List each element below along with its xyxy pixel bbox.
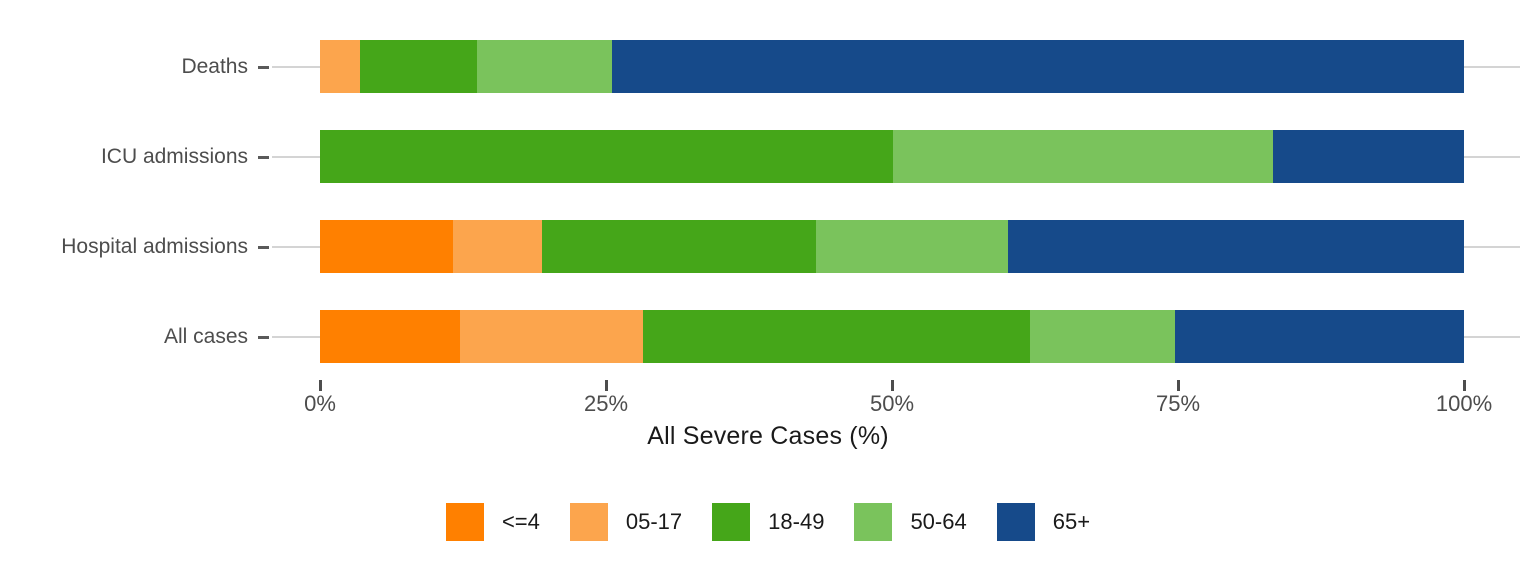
y-axis-label-hospital-admissions: Hospital admissions	[0, 236, 248, 257]
x-axis-tick-label: 50%	[832, 393, 952, 415]
bar-segment-65[interactable]	[1273, 130, 1464, 183]
y-axis-tick	[258, 156, 269, 159]
bar-segment-65[interactable]	[1008, 220, 1464, 273]
x-axis-tick	[605, 380, 608, 391]
bar-segment-5064[interactable]	[477, 40, 612, 93]
legend-label: 50-64	[910, 509, 966, 535]
bar-hospital-admissions[interactable]	[320, 220, 1464, 273]
y-axis-label-icu-admissions: ICU admissions	[0, 146, 248, 167]
legend-swatch-icon	[997, 503, 1035, 541]
y-axis-label-deaths: Deaths	[0, 56, 248, 77]
bar-all-cases[interactable]	[320, 310, 1464, 363]
bar-segment-1849[interactable]	[643, 310, 1031, 363]
bar-deaths[interactable]	[320, 40, 1464, 93]
legend-label: 65+	[1053, 509, 1090, 535]
bar-segment-1849[interactable]	[542, 220, 817, 273]
bar-icu-admissions[interactable]	[320, 130, 1464, 183]
x-axis-title: All Severe Cases (%)	[0, 422, 1536, 451]
bar-segment-5064[interactable]	[893, 130, 1273, 183]
legend-item-4[interactable]: <=4	[446, 503, 540, 541]
bar-segment-4[interactable]	[320, 310, 460, 363]
legend-swatch-icon	[712, 503, 750, 541]
legend-label: <=4	[502, 509, 540, 535]
bar-segment-65[interactable]	[612, 40, 1464, 93]
x-axis-tick-label: 75%	[1118, 393, 1238, 415]
bar-segment-4[interactable]	[320, 220, 453, 273]
bar-segment-1849[interactable]	[320, 130, 893, 183]
x-axis-tick	[1463, 380, 1466, 391]
legend-swatch-icon	[446, 503, 484, 541]
bar-segment-65[interactable]	[1175, 310, 1464, 363]
y-axis-tick	[258, 336, 269, 339]
y-axis-tick	[258, 246, 269, 249]
bar-segment-0517[interactable]	[453, 220, 542, 273]
x-axis-tick-label: 0%	[260, 393, 380, 415]
legend-label: 18-49	[768, 509, 824, 535]
legend-label: 05-17	[626, 509, 682, 535]
legend-item-5064[interactable]: 50-64	[854, 503, 966, 541]
legend-item-65[interactable]: 65+	[997, 503, 1090, 541]
bar-segment-0517[interactable]	[320, 40, 360, 93]
legend-swatch-icon	[854, 503, 892, 541]
legend-swatch-icon	[570, 503, 608, 541]
legend-item-1849[interactable]: 18-49	[712, 503, 824, 541]
x-axis-tick-label: 25%	[546, 393, 666, 415]
plot-area	[320, 0, 1464, 400]
y-axis-label-all-cases: All cases	[0, 326, 248, 347]
chart-legend: <=405-1718-4950-6465+	[0, 503, 1536, 541]
y-axis-tick	[258, 66, 269, 69]
bar-segment-0517[interactable]	[460, 310, 643, 363]
bar-segment-1849[interactable]	[360, 40, 477, 93]
bar-segment-5064[interactable]	[1030, 310, 1174, 363]
stacked-bar-chart: DeathsICU admissionsHospital admissionsA…	[0, 0, 1536, 576]
x-axis-tick-label: 100%	[1404, 393, 1524, 415]
x-axis-tick	[319, 380, 322, 391]
legend-item-0517[interactable]: 05-17	[570, 503, 682, 541]
x-axis-tick	[1177, 380, 1180, 391]
bar-segment-5064[interactable]	[816, 220, 1007, 273]
x-axis-tick	[891, 380, 894, 391]
